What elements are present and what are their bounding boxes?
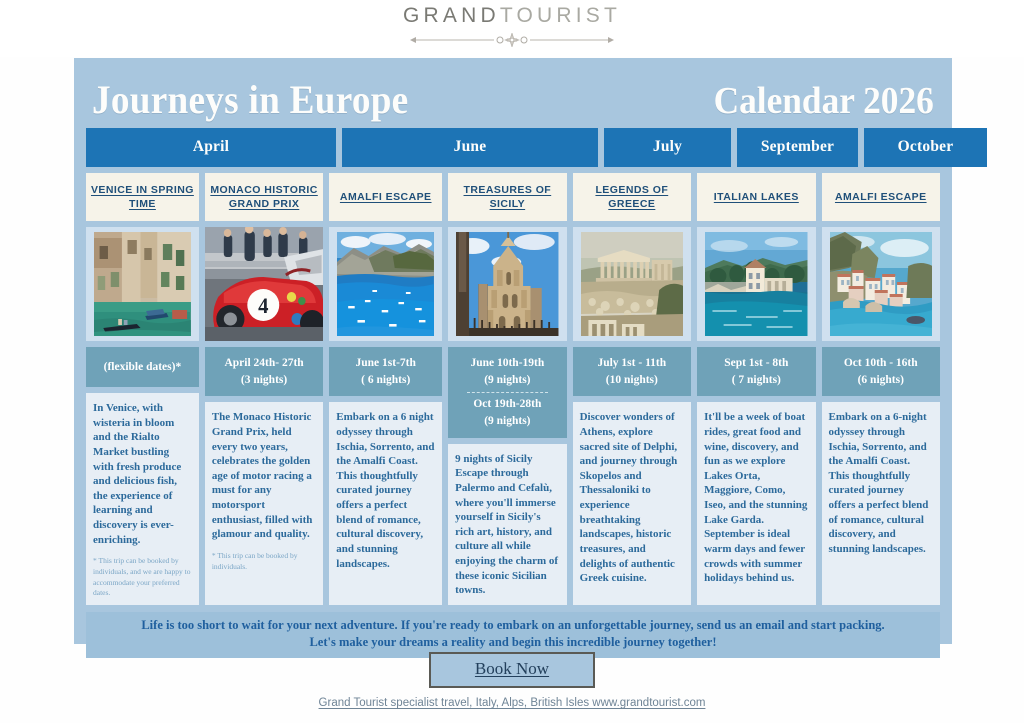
panel-titles: Journeys in Europe Calendar 2026	[74, 58, 952, 120]
date-primary-nights: (3 nights)	[241, 372, 287, 389]
tour-column-amalfi-october: AMALFI ESCAPE	[822, 173, 940, 605]
tour-column-greece: LEGENDS OF GREECE	[573, 173, 691, 605]
tour-description-monaco: The Monaco Historic Grand Prix, held eve…	[205, 402, 323, 604]
calendar-year-title: Calendar 2026	[714, 82, 934, 120]
tour-columns: VENICE IN SPRING TIME	[86, 173, 940, 605]
date-primary-nights: ( 6 nights)	[361, 372, 410, 389]
date-primary: (flexible dates)*	[104, 359, 182, 376]
page-title: Journeys in Europe	[92, 80, 408, 120]
tagline-banner: Life is too short to wait for your next …	[86, 612, 940, 658]
tour-link-venice[interactable]: VENICE IN SPRING TIME	[86, 173, 199, 221]
date-divider	[467, 392, 548, 393]
tour-dates-amalfi-june: June 1st-7th ( 6 nights)	[329, 347, 442, 396]
italian-lakes-villa-photo	[697, 227, 815, 341]
tour-column-italian-lakes: ITALIAN LAKES	[697, 173, 815, 605]
month-header-september: September	[737, 128, 858, 167]
tour-link-greece[interactable]: LEGENDS OF GREECE	[573, 173, 691, 221]
monaco-red-racing-car-photo: 4	[205, 227, 323, 341]
tour-link-sicily[interactable]: TREASURES OF SICILY	[448, 173, 566, 221]
tour-dates-greece: July 1st - 11th (10 nights)	[573, 347, 691, 396]
date-primary-nights: ( 7 nights)	[732, 372, 781, 389]
calendar-grid: April June July September October VENICE…	[74, 120, 952, 658]
venice-canal-gondola-photo	[86, 227, 199, 341]
sicily-baroque-church-photo	[448, 227, 566, 341]
tour-column-venice: VENICE IN SPRING TIME	[86, 173, 199, 605]
tour-description-amalfi-october: Embark on a 6-night odyssey through Isch…	[822, 402, 940, 604]
tour-name-label: TREASURES OF SICILY	[451, 183, 563, 211]
date-primary: April 24th- 27th	[224, 355, 303, 372]
month-header-october: October	[864, 128, 987, 167]
tour-description-italian-lakes: It'll be a week of boat rides, great foo…	[697, 402, 815, 604]
date-secondary: Oct 19th-28th	[473, 396, 541, 413]
date-primary: June 10th-19th	[470, 355, 544, 372]
book-now-container: Book Now	[0, 652, 1024, 688]
description-note: * This trip can be booked by individuals…	[93, 556, 192, 599]
description-text: It'll be a week of boat rides, great foo…	[704, 410, 808, 586]
month-header-april: April	[86, 128, 336, 167]
description-note: * This trip can be booked by individuals…	[212, 551, 316, 572]
tour-name-label: ITALIAN LAKES	[714, 190, 799, 204]
tour-dates-amalfi-october: Oct 10th - 16th (6 nights)	[822, 347, 940, 396]
calendar-page: GRANDTOURIST Journeys in Europe	[0, 0, 1024, 723]
tour-dates-monaco: April 24th- 27th (3 nights)	[205, 347, 323, 396]
brand-name-tourist: TOURIST	[500, 4, 621, 27]
description-text: In Venice, with wisteria in bloom and th…	[93, 401, 192, 547]
tour-name-label: AMALFI ESCAPE	[835, 190, 927, 204]
description-text: 9 nights of Sicily Escape through Palerm…	[455, 452, 559, 598]
date-primary-nights: (9 nights)	[484, 372, 530, 389]
date-primary: Sept 1st - 8th	[724, 355, 788, 372]
date-primary: June 1st-7th	[356, 355, 416, 372]
description-text: The Monaco Historic Grand Prix, held eve…	[212, 410, 316, 542]
tour-column-monaco: MONACO HISTORIC GRAND PRIX	[205, 173, 323, 605]
date-primary: Oct 10th - 16th	[844, 355, 918, 372]
tour-name-label: VENICE IN SPRING TIME	[89, 183, 196, 211]
brand-name-grand: GRAND	[403, 4, 500, 27]
month-header-row: April June July September October	[86, 128, 940, 167]
month-header-june: June	[342, 128, 598, 167]
description-text: Embark on a 6 night odyssey through Isch…	[336, 410, 435, 571]
brand-header: GRANDTOURIST	[0, 0, 1024, 57]
athens-acropolis-parthenon-photo	[573, 227, 691, 341]
description-text: Embark on a 6-night odyssey through Isch…	[829, 410, 933, 556]
date-secondary-nights: (9 nights)	[484, 413, 530, 430]
tagline-line-2: Let's make your dreams a reality and beg…	[96, 634, 930, 651]
tagline-line-1: Life is too short to wait for your next …	[96, 617, 930, 634]
tour-link-italian-lakes[interactable]: ITALIAN LAKES	[697, 173, 815, 221]
tour-link-amalfi-june[interactable]: AMALFI ESCAPE	[329, 173, 442, 221]
date-primary-nights: (6 nights)	[858, 372, 904, 389]
footer-contact-link[interactable]: Grand Tourist specialist travel, Italy, …	[0, 697, 1024, 709]
calendar-panel: Journeys in Europe Calendar 2026 April J…	[74, 58, 952, 644]
amalfi-village-coastline-photo	[822, 227, 940, 341]
tour-description-amalfi-june: Embark on a 6 night odyssey through Isch…	[329, 402, 442, 604]
tour-link-monaco[interactable]: MONACO HISTORIC GRAND PRIX	[205, 173, 323, 221]
tour-dates-italian-lakes: Sept 1st - 8th ( 7 nights)	[697, 347, 815, 396]
month-header-july: July	[604, 128, 731, 167]
tour-dates-sicily: June 10th-19th (9 nights) Oct 19th-28th …	[448, 347, 566, 438]
date-primary-nights: (10 nights)	[606, 372, 658, 389]
book-now-button[interactable]: Book Now	[429, 652, 595, 688]
tour-link-amalfi-october[interactable]: AMALFI ESCAPE	[822, 173, 940, 221]
tour-column-sicily: TREASURES OF SICILY	[448, 173, 566, 605]
tour-description-venice: In Venice, with wisteria in bloom and th…	[86, 393, 199, 605]
brand-wordmark: GRANDTOURIST	[403, 5, 621, 26]
tour-description-sicily: 9 nights of Sicily Escape through Palerm…	[448, 444, 566, 605]
tour-name-label: LEGENDS OF GREECE	[576, 183, 688, 211]
svg-text:4: 4	[258, 293, 269, 318]
date-primary: July 1st - 11th	[597, 355, 666, 372]
tour-column-amalfi-june: AMALFI ESCAPE	[329, 173, 442, 605]
tour-description-greece: Discover wonders of Athens, explore sacr…	[573, 402, 691, 604]
description-text: Discover wonders of Athens, explore sacr…	[580, 410, 684, 586]
tour-dates-venice: (flexible dates)*	[86, 347, 199, 387]
ornament-divider-icon	[402, 33, 622, 52]
tour-name-label: AMALFI ESCAPE	[340, 190, 432, 204]
amalfi-coast-cliffs-boats-photo	[329, 227, 442, 341]
tour-name-label: MONACO HISTORIC GRAND PRIX	[208, 183, 320, 211]
